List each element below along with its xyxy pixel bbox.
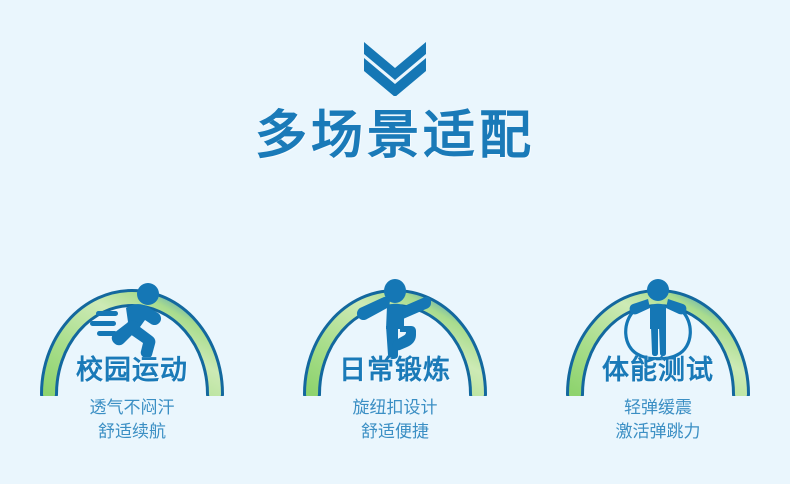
- feature-card-daily-exercise[interactable]: 日常锻炼 旋纽扣设计 舒适便捷: [264, 236, 527, 466]
- feature-card-fitness-test[interactable]: 体能测试 轻弹缓震 激活弹跳力: [527, 236, 790, 466]
- card-heading: 日常锻炼: [264, 357, 527, 384]
- page-header: 多场景适配: [0, 0, 790, 162]
- card-subtitle-line-2: 舒适便捷: [264, 420, 527, 444]
- card-subtitle-line-1: 轻弹缓震: [527, 396, 790, 420]
- page-title: 多场景适配: [0, 110, 790, 162]
- promo-page: 多场景适配: [0, 0, 790, 484]
- card-subtitle-line-2: 激活弹跳力: [527, 420, 790, 444]
- feature-card-campus-sports[interactable]: 校园运动 透气不闷汗 舒适续航: [1, 236, 264, 466]
- card-heading: 校园运动: [1, 357, 264, 384]
- card-heading: 体能测试: [527, 357, 790, 384]
- feature-cards: 校园运动 透气不闷汗 舒适续航: [0, 236, 790, 466]
- jumping-person-icon: [352, 278, 438, 360]
- card-subtitle-line-1: 透气不闷汗: [1, 396, 264, 420]
- card-subtitle: 轻弹缓震 激活弹跳力: [527, 396, 790, 444]
- card-subtitle: 旋纽扣设计 舒适便捷: [264, 396, 527, 444]
- jump-rope-person-icon: [615, 278, 701, 360]
- card-subtitle-line-2: 舒适续航: [1, 420, 264, 444]
- running-person-icon: [89, 278, 175, 360]
- double-chevron-down-icon: [0, 40, 790, 96]
- card-subtitle: 透气不闷汗 舒适续航: [1, 396, 264, 444]
- card-subtitle-line-1: 旋纽扣设计: [264, 396, 527, 420]
